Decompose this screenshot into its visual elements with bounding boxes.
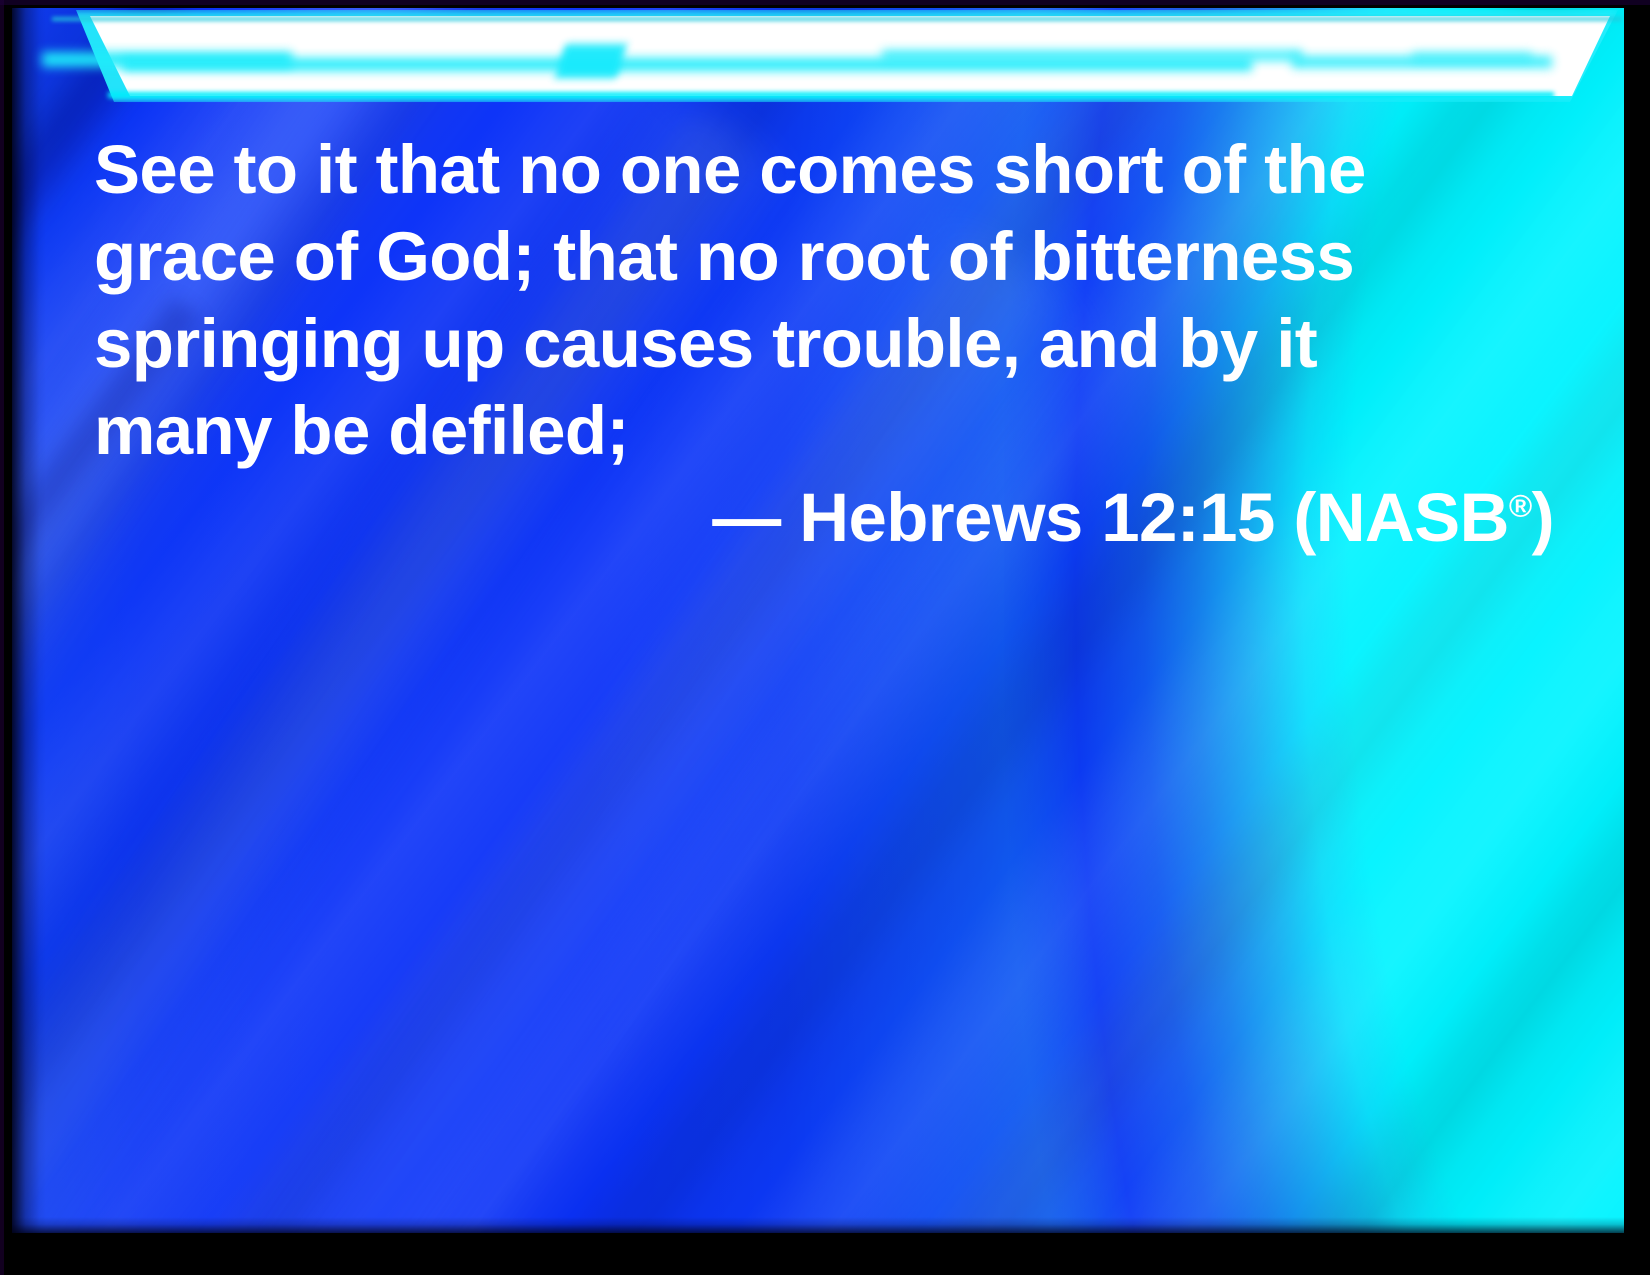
verse-attribution: — Hebrews 12:15 (NASB®) [94,474,1554,561]
band-cyan-blob [555,44,627,78]
attribution-space-3 [1275,479,1294,556]
attribution-reference: 12:15 [1101,479,1274,556]
band-top-rule [52,17,1622,21]
header-light-band [12,8,1624,104]
attribution-space-2 [1083,479,1102,556]
attribution-space [781,479,800,556]
attribution-dash: — [712,479,780,556]
attribution-translation-close: ) [1532,479,1554,556]
attribution-translation-open: (NASB [1293,479,1509,556]
scripture-slide: See to it that no one comes short of the… [0,0,1650,1275]
slide-canvas: See to it that no one comes short of the… [12,8,1624,1233]
background-left-edge-shade [12,8,46,1233]
background-bottom-edge-shade [12,1217,1624,1233]
band-cyan-wisp [882,50,1302,61]
registered-trademark-icon: ® [1509,488,1532,524]
attribution-book: Hebrews [799,479,1082,556]
verse-text: See to it that no one comes short of the… [94,126,1554,474]
band-bottom-rule [108,92,1554,98]
band-cyan-wisp [1412,52,1532,61]
